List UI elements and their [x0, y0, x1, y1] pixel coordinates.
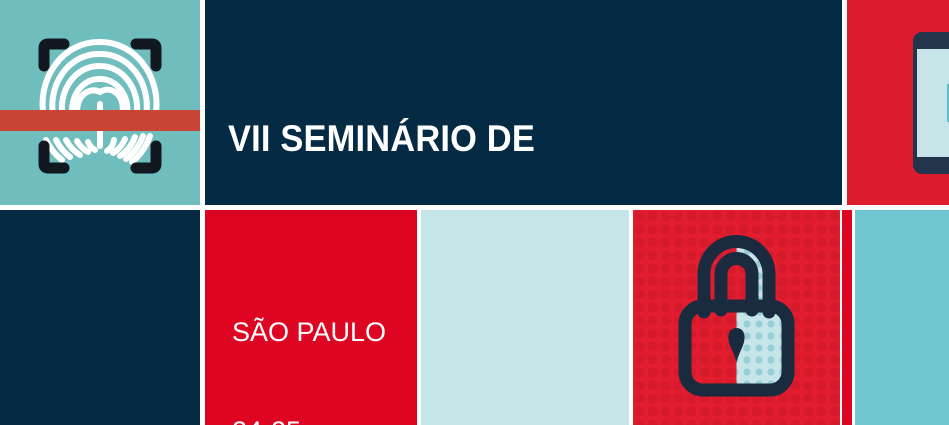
event-details: SÃO PAULO 24-25 AGOSTO 2016 — [232, 250, 386, 425]
smartphone-icon — [847, 0, 949, 205]
fingerprint-scanner-icon — [0, 0, 200, 205]
event-banner: VII SEMINÁRIO DE PROTEÇÃO À PRIVACIDADE … — [0, 0, 949, 425]
title-panel: VII SEMINÁRIO DE PROTEÇÃO À PRIVACIDADE … — [205, 0, 842, 205]
navy-halftone-panel — [0, 210, 200, 425]
fingerprint-panel — [0, 0, 200, 205]
teal-halftone-panel — [855, 210, 949, 425]
light-blue-halftone-panel — [421, 210, 629, 425]
phone-panel — [847, 0, 949, 205]
red-strip-panel — [842, 210, 852, 425]
page-title: VII SEMINÁRIO DE PROTEÇÃO À PRIVACIDADE … — [228, 26, 706, 205]
padlock-icon — [633, 210, 840, 425]
event-city: SÃO PAULO — [232, 316, 386, 349]
halftone-dots-teal — [855, 210, 949, 425]
date-panel: SÃO PAULO 24-25 AGOSTO 2016 — [205, 210, 417, 425]
title-line-1: VII SEMINÁRIO DE — [228, 116, 706, 161]
lock-panel — [633, 210, 840, 425]
halftone-dots-navy-left — [0, 210, 200, 425]
event-days: 24-25 — [232, 415, 386, 425]
halftone-dots-light-blue — [421, 210, 629, 425]
